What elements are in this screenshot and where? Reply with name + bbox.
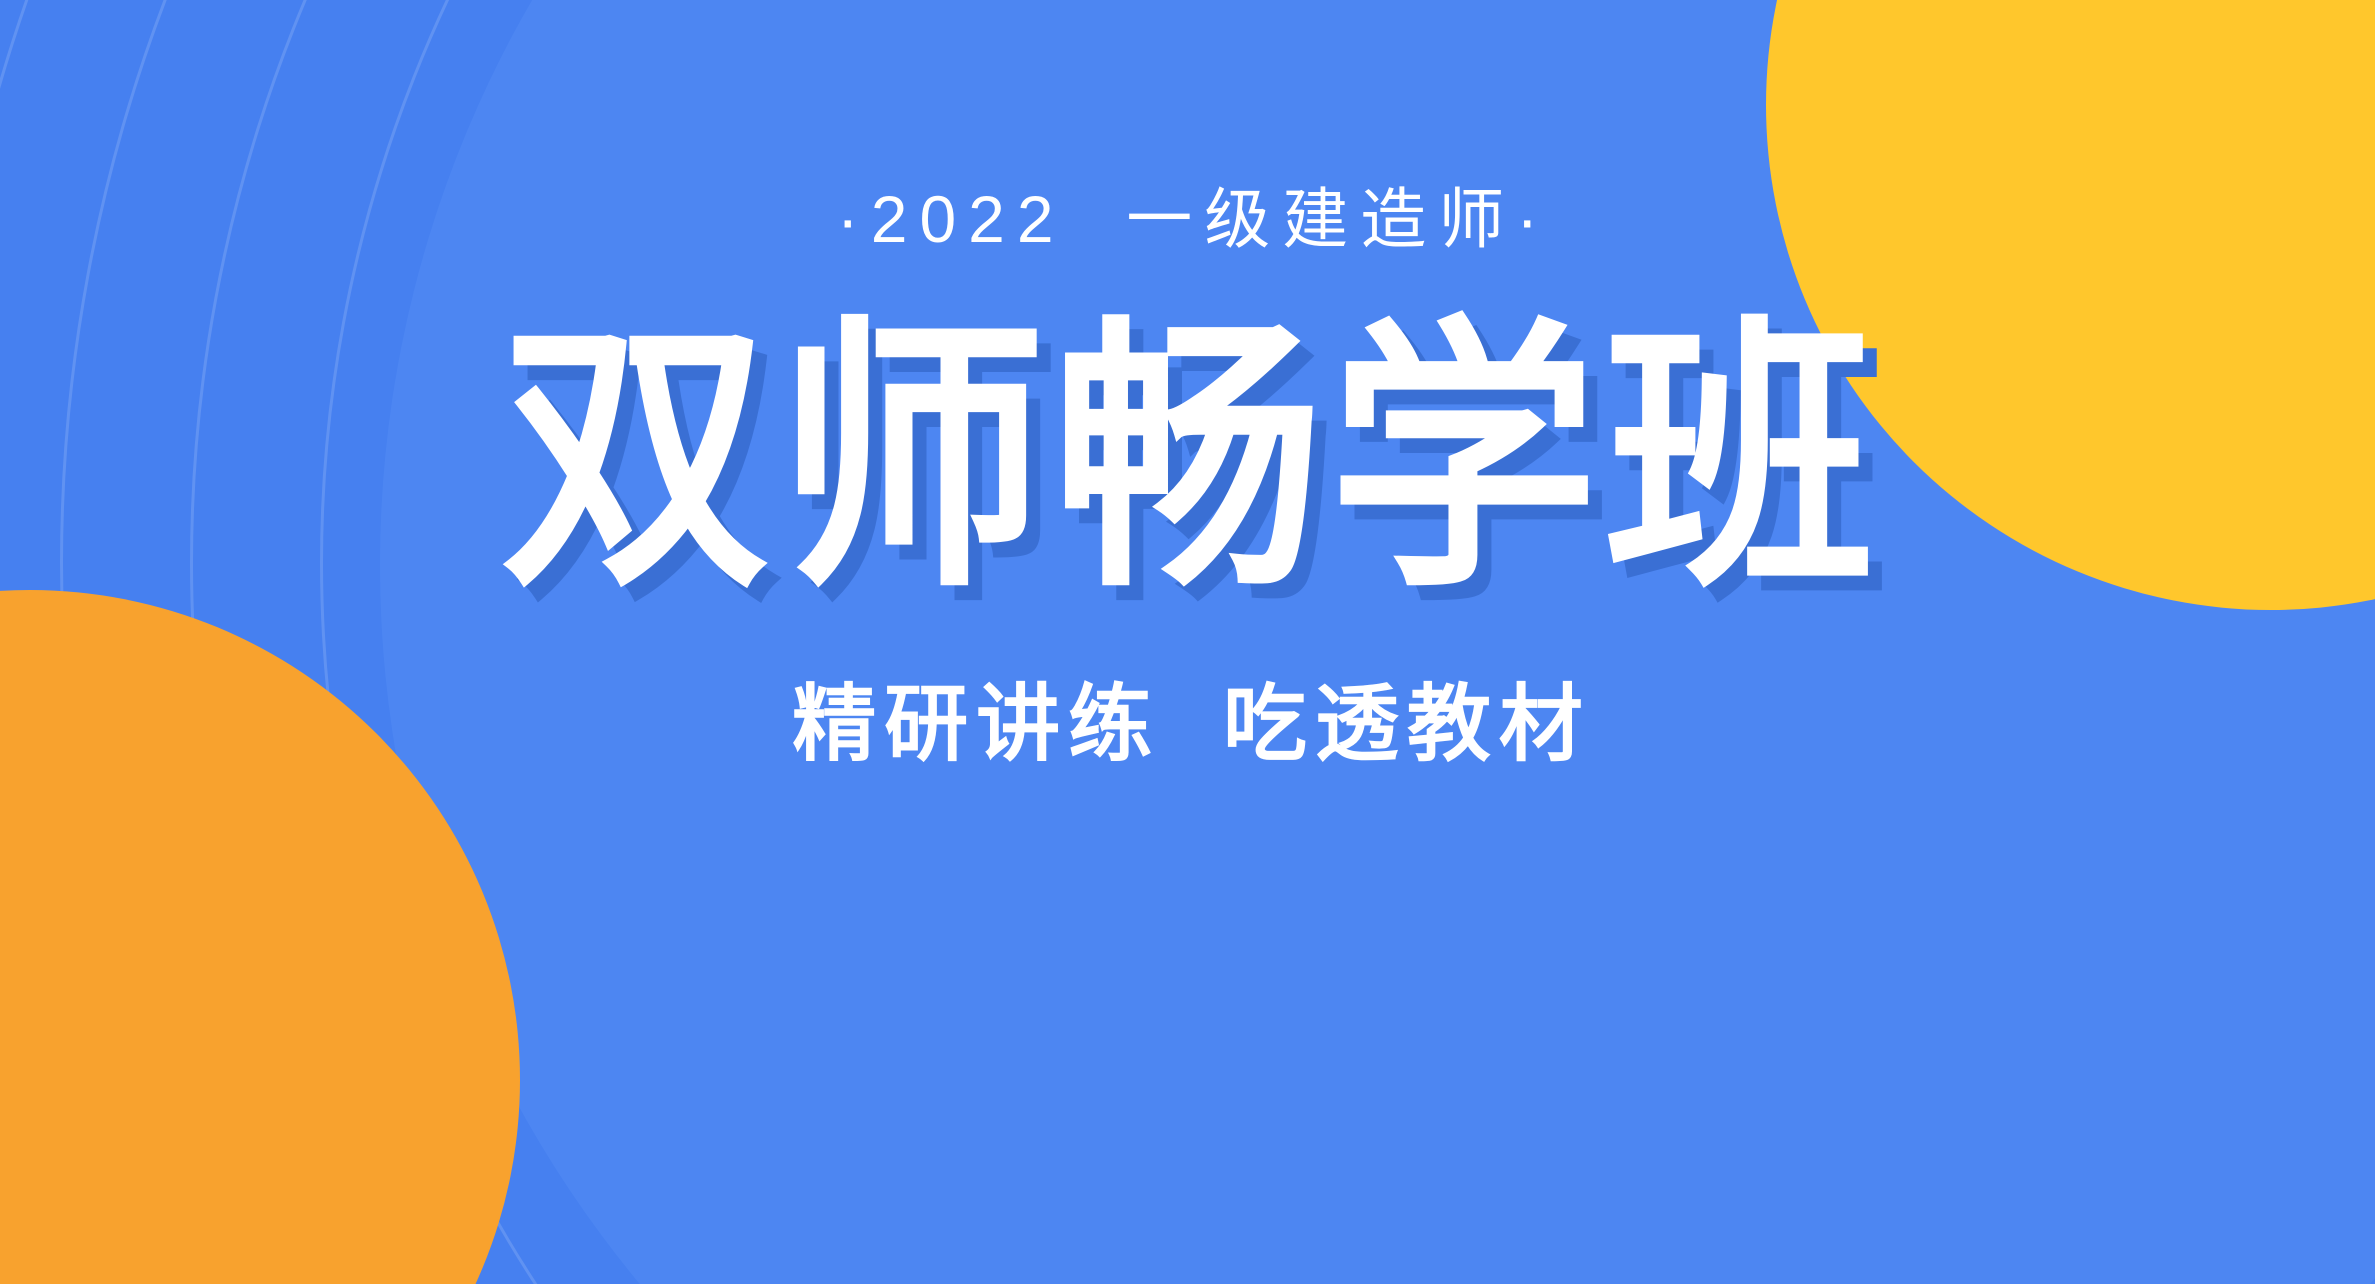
banner-headline: 双师畅学班: [495, 318, 1881, 604]
banner-tagline: 精研讲练 吃透教材: [784, 682, 1591, 766]
promo-banner: ·2022 一级建造师· 双师畅学班 精研讲练 吃透教材: [0, 0, 2375, 1284]
banner-eyebrow: ·2022 一级建造师·: [825, 186, 1550, 252]
banner-content: ·2022 一级建造师· 双师畅学班 精研讲练 吃透教材: [0, 0, 2375, 1284]
